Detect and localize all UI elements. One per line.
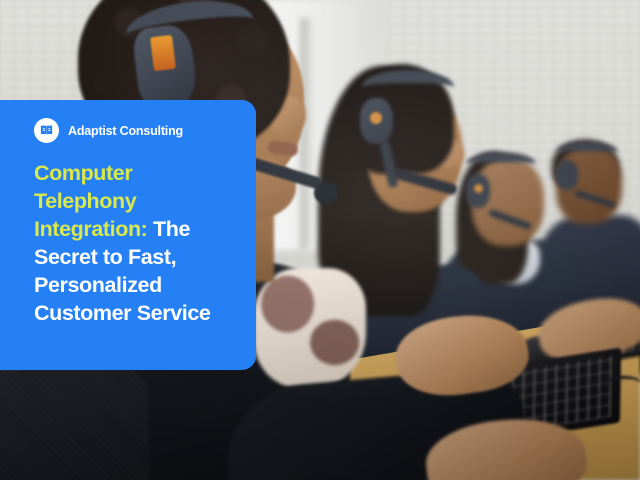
headline-panel: Adaptist Consulting Computer Telephony I…: [0, 100, 256, 370]
fourth-agent-headset-band: [556, 142, 618, 162]
headline-accent-text: Computer Telephony Integration:: [34, 161, 147, 241]
third-agent-headset-accent: [474, 184, 483, 193]
third-agent-headset-band: [466, 152, 536, 176]
page-title: Computer Telephony Integration: The Secr…: [34, 160, 234, 328]
book-mark-logo-icon: [34, 118, 59, 143]
office-chair: [0, 368, 150, 480]
doorway-edge: [300, 18, 314, 250]
brand-name: Adaptist Consulting: [68, 124, 183, 138]
foreground-agent-microphone: [314, 182, 338, 204]
second-agent-headset-accent: [370, 112, 382, 124]
foreground-agent-scarf: [254, 268, 366, 388]
foreground-agent-headset-orange-accent: [150, 35, 176, 71]
blog-hero-banner: Adaptist Consulting Computer Telephony I…: [0, 0, 640, 480]
fourth-agent-headset-earcup: [556, 160, 578, 190]
brand-lockup: Adaptist Consulting: [34, 118, 234, 143]
